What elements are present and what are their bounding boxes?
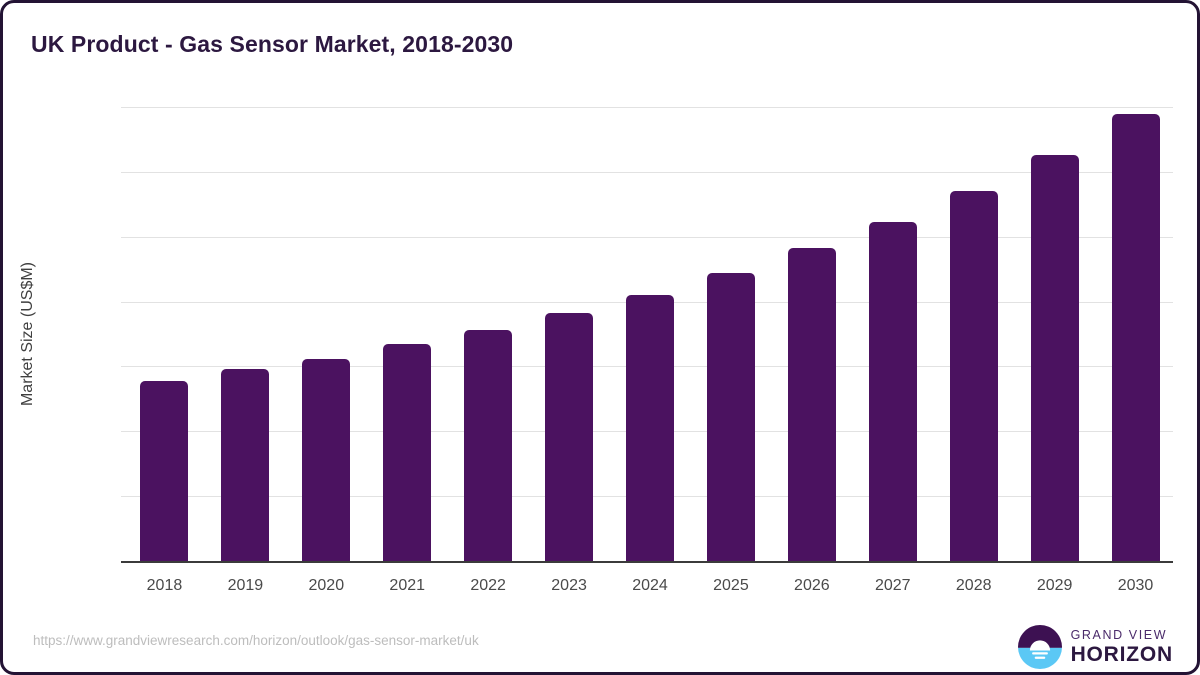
bar[interactable] xyxy=(302,359,350,561)
x-tick-label: 2020 xyxy=(286,577,366,595)
source-url[interactable]: https://www.grandviewresearch.com/horizo… xyxy=(33,633,479,648)
x-tick-label: 2023 xyxy=(529,577,609,595)
bar[interactable] xyxy=(383,344,431,561)
chart-figure: UK Product - Gas Sensor Market, 2018-203… xyxy=(0,0,1200,675)
x-tick-label: 2018 xyxy=(124,577,204,595)
y-axis-title: Market Size (US$M) xyxy=(19,262,37,406)
chart-title: UK Product - Gas Sensor Market, 2018-203… xyxy=(31,31,513,58)
x-tick-label: 2022 xyxy=(448,577,528,595)
bar[interactable] xyxy=(140,381,188,561)
x-tick-label: 2029 xyxy=(1015,577,1095,595)
gridline xyxy=(121,107,1173,108)
gridline xyxy=(121,172,1173,173)
x-tick-label: 2027 xyxy=(853,577,933,595)
bar[interactable] xyxy=(464,330,512,561)
logo-line-horizon: HORIZON xyxy=(1071,644,1173,665)
x-tick-label: 2030 xyxy=(1096,577,1176,595)
brand-logo: GRAND VIEW HORIZON xyxy=(1018,623,1173,671)
bar[interactable] xyxy=(950,191,998,561)
x-tick-label: 2019 xyxy=(205,577,285,595)
plot-area: 050100150200250300350 xyxy=(121,107,1173,561)
bar[interactable] xyxy=(707,273,755,561)
bar[interactable] xyxy=(869,222,917,561)
x-tick-label: 2024 xyxy=(610,577,690,595)
grand-view-horizon-logo-icon xyxy=(1018,625,1062,669)
x-tick-label: 2025 xyxy=(691,577,771,595)
gridline xyxy=(121,237,1173,238)
bar[interactable] xyxy=(626,295,674,561)
bar[interactable] xyxy=(788,248,836,561)
x-tick-label: 2026 xyxy=(772,577,852,595)
x-axis-labels: 2018201920202021202220232024202520262027… xyxy=(121,565,1173,595)
logo-wordmark: GRAND VIEW HORIZON xyxy=(1071,629,1173,666)
x-tick-label: 2021 xyxy=(367,577,447,595)
bar[interactable] xyxy=(1112,114,1160,562)
bar[interactable] xyxy=(1031,155,1079,561)
bar[interactable] xyxy=(221,369,269,561)
x-axis-line xyxy=(121,561,1173,563)
bar[interactable] xyxy=(545,313,593,561)
x-tick-label: 2028 xyxy=(934,577,1014,595)
logo-line-grand-view: GRAND VIEW xyxy=(1071,629,1173,642)
